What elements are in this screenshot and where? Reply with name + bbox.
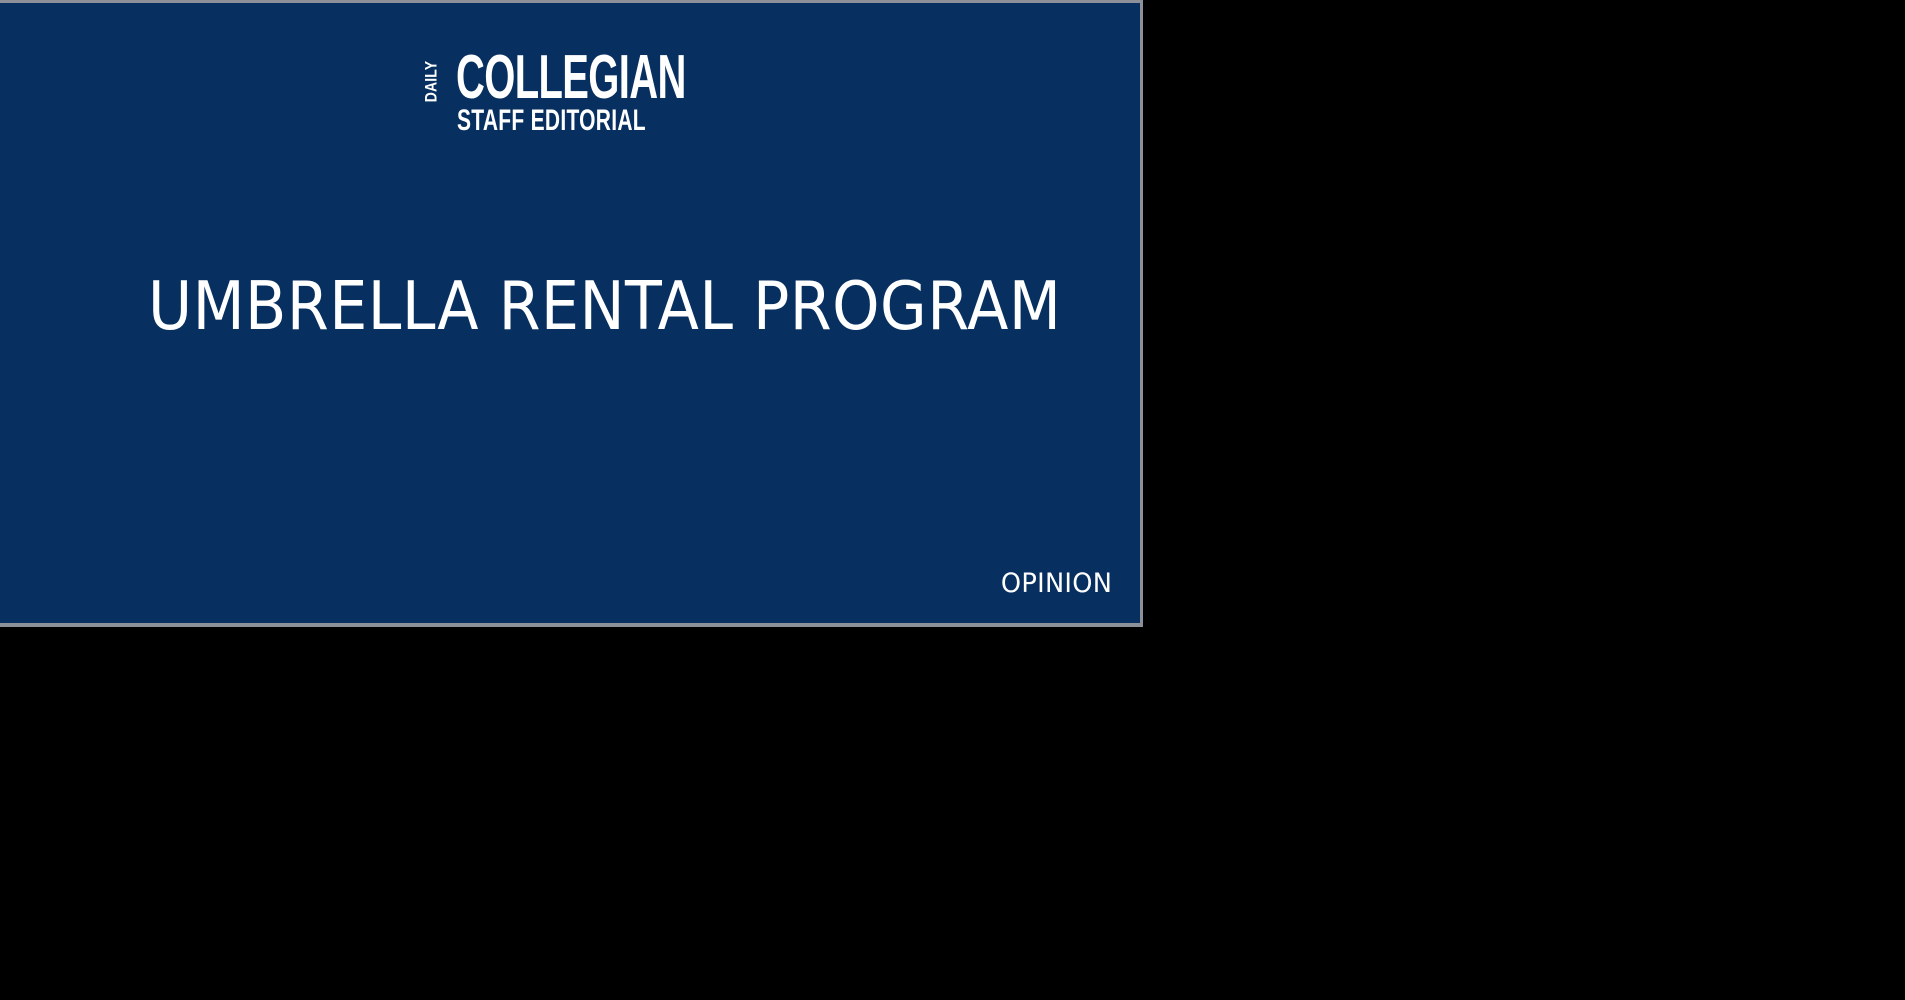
article-section-label: OPINION <box>1001 569 1112 599</box>
screen-canvas: DAILY COLLEGIAN STAFF EDITORIAL UMBRELLA… <box>0 0 1905 1000</box>
staff-editorial-card: DAILY COLLEGIAN STAFF EDITORIAL UMBRELLA… <box>0 0 1143 627</box>
masthead-subtitle-staff-editorial: STAFF EDITORIAL <box>457 106 646 136</box>
masthead-kicker-daily: DAILY <box>423 59 440 105</box>
article-headline: UMBRELLA RENTAL PROGRAM <box>148 270 958 342</box>
daily-collegian-masthead: DAILY COLLEGIAN STAFF EDITORIAL <box>419 47 664 131</box>
masthead-title-collegian: COLLEGIAN <box>456 47 686 109</box>
